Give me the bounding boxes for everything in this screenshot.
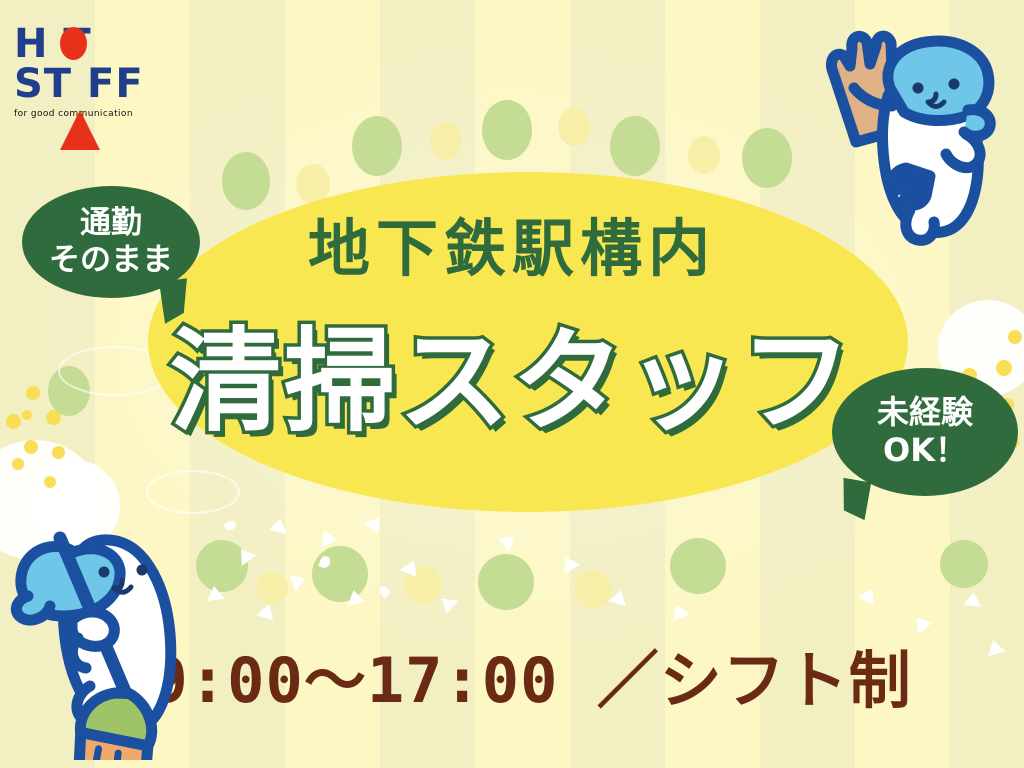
badge-commute-line2: そのまま	[49, 242, 173, 279]
mascot-eye-right	[137, 565, 148, 576]
mascot-eye-left	[913, 83, 924, 94]
decor-dot-green	[610, 116, 660, 176]
badge-commute-line1: 通勤	[80, 205, 142, 242]
logo-line2: ST FF	[14, 61, 144, 107]
decor-dot-green	[482, 100, 532, 160]
company-logo: H T ST FF for good communication	[14, 24, 194, 119]
badge-no-experience: 未経験 OK！	[832, 368, 1018, 496]
decor-dot-yellow	[430, 122, 462, 160]
mascot-waving-illustration	[770, 10, 1020, 250]
logo-triangle-icon	[60, 110, 100, 150]
mascot-eye-right	[949, 79, 960, 90]
decor-dot-yellow	[688, 136, 720, 174]
mascot-sweeping-illustration	[8, 500, 228, 760]
mascot-eye-left	[99, 567, 110, 578]
decor-dot-green	[940, 540, 988, 588]
mascot-sweeping	[8, 500, 228, 760]
decor-dot-yellow	[12, 458, 24, 470]
decor-dot-green	[478, 554, 534, 610]
decor-dot-green	[222, 152, 270, 210]
badge-no-experience-line1: 未経験	[877, 394, 973, 432]
decor-dot-green	[352, 116, 402, 176]
recruitment-banner: 地下鉄駅構内 清掃スタッフ 09:00〜17:00 ／シフト制 通勤 そのまま …	[0, 0, 1024, 768]
bubble-tail	[159, 278, 193, 323]
decor-dot-yellow	[256, 572, 288, 604]
logo-tagline: for good communication	[14, 109, 194, 119]
logo-line1-row: H T	[14, 24, 194, 64]
badge-commute: 通勤 そのまま	[22, 186, 200, 298]
logo-line2-row: ST FF	[14, 64, 194, 104]
mascot-waving	[770, 10, 1020, 250]
decor-dot-yellow	[52, 446, 65, 459]
decor-dot-yellow	[44, 476, 56, 488]
badge-no-experience-line2: OK！	[883, 432, 967, 470]
decor-triangle	[963, 591, 983, 607]
decor-dot-green	[670, 538, 726, 594]
logo-circle-icon	[60, 27, 87, 60]
decor-dot-yellow	[558, 108, 590, 146]
decor-dot-yellow	[574, 570, 612, 608]
